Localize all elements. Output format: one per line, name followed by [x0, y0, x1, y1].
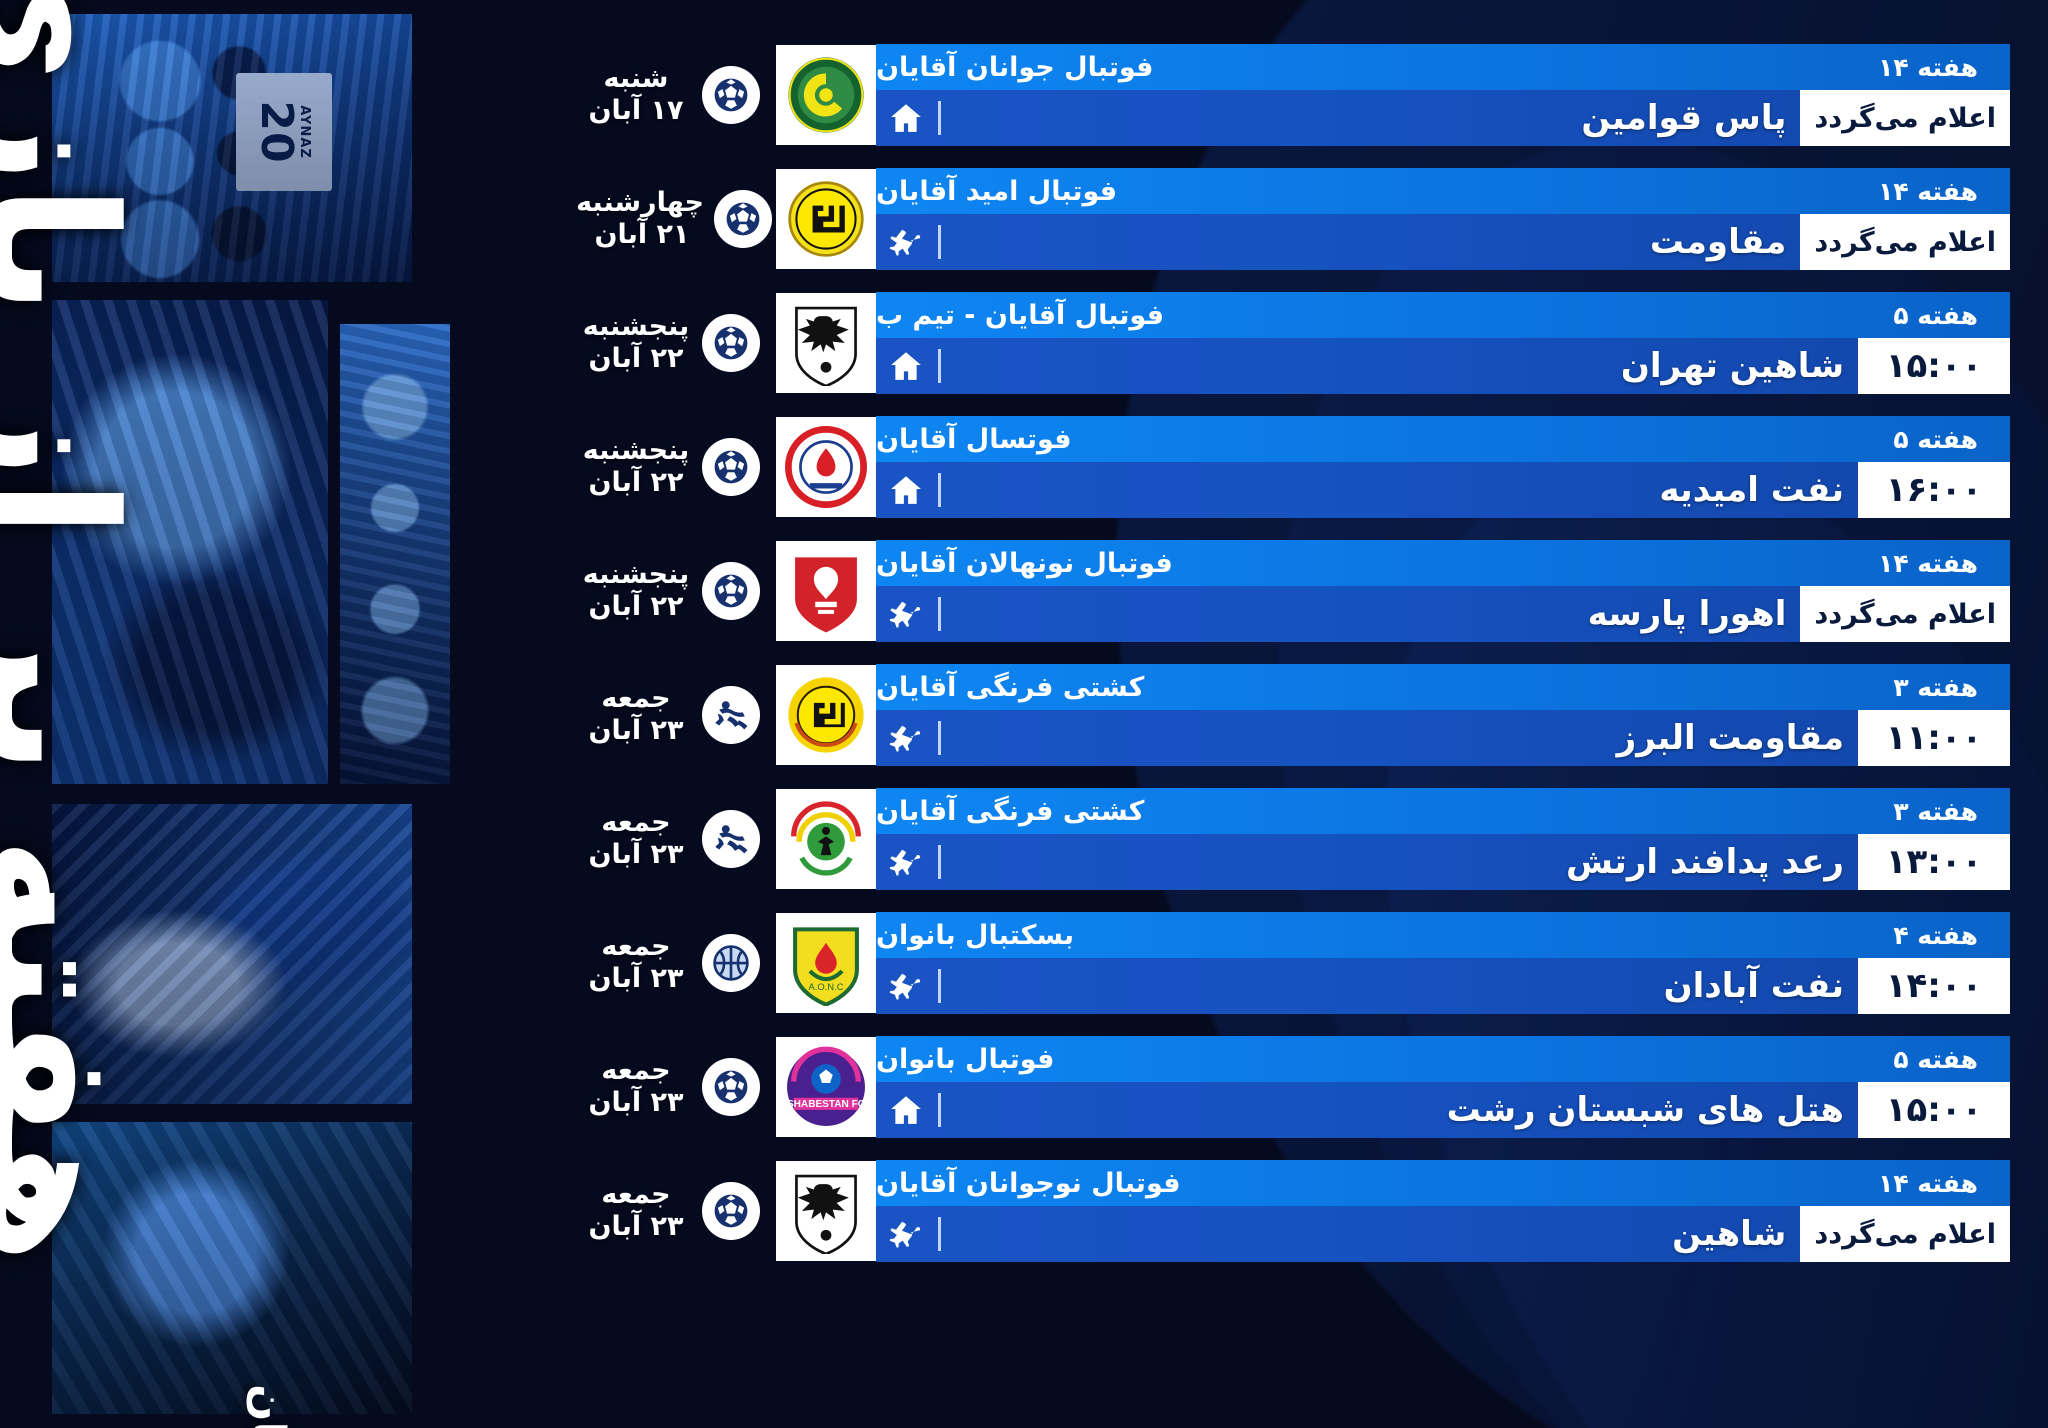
match-bars: فوتبال نوجوانان آقایانهفته ۱۴شاهیناعلام …	[876, 1160, 2010, 1262]
match-team-bar: رعد پدافند ارتش۱۳:۰۰	[876, 834, 2010, 890]
match-league: فوتبال امید آقایان	[876, 176, 1123, 207]
soccer-ball-icon	[702, 66, 760, 124]
match-bars: کشتی فرنگی آقایانهفته ۳رعد پدافند ارتش۱۳…	[876, 788, 2010, 890]
svg-text:A.O.N.C: A.O.N.C	[809, 981, 844, 992]
match-team-bar: پاس قوامیناعلام می‌گردد	[876, 90, 2010, 146]
match-row[interactable]: پنجشنبه۲۲ آبانفوتبال نونهالان آقایانهفته…	[580, 540, 2010, 642]
match-daymonth: ۲۳ آبان	[580, 1087, 692, 1119]
match-date-block: جمعه۲۳ آبان	[580, 664, 776, 766]
photo-collage-panel: AYNAZ 20 هفته پر از بازی ۱۷ آبان ۲۳ آبان	[52, 14, 544, 1414]
match-league: بسکتبال بانوان	[876, 920, 1080, 951]
match-weekday: جمعه	[580, 931, 692, 963]
background-watermark: برنامه هفته	[0, 1046, 30, 1406]
match-weekday: چهارشنبه	[580, 187, 704, 219]
match-bars: فوتبال نونهالان آقایانهفته ۱۴اهورا پارسه…	[876, 540, 2010, 642]
plane-icon	[876, 710, 936, 766]
match-league: فوتبال آقایان - تیم ب	[876, 300, 1170, 331]
match-week: هفته ۱۴	[1856, 177, 1996, 206]
collage-photo-action-3	[52, 1122, 412, 1414]
match-date-block: پنجشنبه۲۲ آبان	[580, 540, 776, 642]
venue-divider	[938, 597, 941, 631]
match-date: جمعه۲۳ آبان	[580, 1179, 692, 1243]
match-schedule-list: شنبه۱۷ آبانفوتبال جوانان آقایانهفته ۱۴پا…	[580, 44, 2010, 1262]
match-row[interactable]: پنجشنبه۲۲ آبانفوتبال آقایان - تیم بهفته …	[580, 292, 2010, 394]
match-row[interactable]: جمعه۲۳ آبانفوتبال نوجوانان آقایانهفته ۱۴…	[580, 1160, 2010, 1262]
match-team-bar: مقاومتاعلام می‌گردد	[876, 214, 2010, 270]
match-opponent: هتل های شبستان رشت	[943, 1082, 1858, 1138]
wrestling-icon	[702, 810, 760, 868]
home-icon	[876, 462, 936, 518]
match-week: هفته ۱۴	[1856, 1169, 1996, 1198]
match-bars: بسکتبال بانوانهفته ۴نفت آبادان۱۴:۰۰	[876, 912, 2010, 1014]
home-icon	[876, 90, 936, 146]
match-opponent: نفت آبادان	[943, 958, 1858, 1014]
match-time: اعلام می‌گردد	[1800, 214, 2010, 270]
match-date-block: پنجشنبه۲۲ آبان	[580, 292, 776, 394]
match-team-bar: شاهیناعلام می‌گردد	[876, 1206, 2010, 1262]
match-date: پنجشنبه۲۲ آبان	[580, 559, 692, 623]
soccer-ball-icon	[702, 438, 760, 496]
match-league-bar: فوتبال بانوانهفته ۵	[876, 1036, 2010, 1082]
match-opponent: اهورا پارسه	[943, 586, 1800, 642]
match-row[interactable]: جمعه۲۳ آبانA.O.N.Cبسکتبال بانوانهفته ۴نف…	[580, 912, 2010, 1014]
match-date: پنجشنبه۲۲ آبان	[580, 435, 692, 499]
match-time: اعلام می‌گردد	[1800, 586, 2010, 642]
match-league-bar: بسکتبال بانوانهفته ۴	[876, 912, 2010, 958]
match-league-bar: کشتی فرنگی آقایانهفته ۳	[876, 664, 2010, 710]
match-team-bar: نفت امیدیه۱۶:۰۰	[876, 462, 2010, 518]
jersey-number: 20	[255, 100, 297, 163]
match-date-block: جمعه۲۳ آبان	[580, 1160, 776, 1262]
match-row[interactable]: شنبه۱۷ آبانفوتبال جوانان آقایانهفته ۱۴پا…	[580, 44, 2010, 146]
soccer-ball-icon	[702, 1182, 760, 1240]
match-team-bar: اهورا پارسهاعلام می‌گردد	[876, 586, 2010, 642]
match-row[interactable]: جمعه۲۳ آبانکشتی فرنگی آقایانهفته ۳رعد پد…	[580, 788, 2010, 890]
match-bars: کشتی فرنگی آقایانهفته ۳مقاومت البرز۱۱:۰۰	[876, 664, 2010, 766]
match-daymonth: ۱۷ آبان	[580, 95, 692, 127]
home-icon	[876, 1082, 936, 1138]
match-opponent: مقاومت	[943, 214, 1800, 270]
match-league: کشتی فرنگی آقایان	[876, 796, 1150, 827]
match-league-bar: فوتسال آقایانهفته ۵	[876, 416, 2010, 462]
jersey-name: AYNAZ	[297, 105, 312, 159]
match-weekday: پنجشنبه	[580, 435, 692, 467]
match-opponent: پاس قوامین	[943, 90, 1800, 146]
match-bars: فوتبال جوانان آقایانهفته ۱۴پاس قوامیناعل…	[876, 44, 2010, 146]
match-weekday: شنبه	[580, 63, 692, 95]
jersey-badge: AYNAZ 20	[236, 73, 332, 191]
match-opponent: رعد پدافند ارتش	[943, 834, 1858, 890]
match-league: فوتسال آقایان	[876, 424, 1078, 455]
match-team-bar: نفت آبادان۱۴:۰۰	[876, 958, 2010, 1014]
match-time: ۱۴:۰۰	[1858, 958, 2010, 1014]
match-time: ۱۳:۰۰	[1858, 834, 2010, 890]
match-row[interactable]: جمعه۲۳ آبانSHABESTAN FCفوتبال بانوانهفته…	[580, 1036, 2010, 1138]
collage-photo-action-2	[52, 804, 412, 1104]
plane-icon	[876, 834, 936, 890]
match-date-block: پنجشنبه۲۲ آبان	[580, 416, 776, 518]
match-daymonth: ۲۲ آبان	[580, 343, 692, 375]
match-week: هفته ۳	[1871, 673, 1996, 702]
match-team-bar: شاهین تهران۱۵:۰۰	[876, 338, 2010, 394]
match-time: ۱۱:۰۰	[1858, 710, 2010, 766]
soccer-ball-icon	[702, 1058, 760, 1116]
match-opponent: شاهین تهران	[943, 338, 1858, 394]
match-week: هفته ۱۴	[1856, 549, 1996, 578]
soccer-ball-icon	[702, 314, 760, 372]
match-date-block: جمعه۲۳ آبان	[580, 788, 776, 890]
match-week: هفته ۵	[1871, 1045, 1996, 1074]
plane-icon	[876, 586, 936, 642]
plane-icon	[876, 958, 936, 1014]
match-time: اعلام می‌گردد	[1800, 1206, 2010, 1262]
soccer-ball-icon	[714, 190, 772, 248]
opponent-club-logo	[776, 1161, 876, 1261]
match-league: فوتبال جوانان آقایان	[876, 52, 1160, 83]
plane-icon	[876, 1206, 936, 1262]
match-time: ۱۶:۰۰	[1858, 462, 2010, 518]
opponent-club-logo	[776, 541, 876, 641]
match-bars: فوتسال آقایانهفته ۵نفت امیدیه۱۶:۰۰	[876, 416, 2010, 518]
match-league-bar: فوتبال آقایان - تیم بهفته ۵	[876, 292, 2010, 338]
match-daymonth: ۲۳ آبان	[580, 839, 692, 871]
match-daymonth: ۲۲ آبان	[580, 591, 692, 623]
venue-divider	[938, 101, 941, 135]
match-week: هفته ۴	[1871, 921, 1996, 950]
match-date-block: چهارشنبه۲۱ آبان	[580, 168, 776, 270]
plane-icon	[876, 214, 936, 270]
match-league: فوتبال بانوان	[876, 1044, 1060, 1075]
match-week: هفته ۱۴	[1856, 53, 1996, 82]
match-bars: فوتبال امید آقایانهفته ۱۴مقاومتاعلام می‌…	[876, 168, 2010, 270]
match-row[interactable]: چهارشنبه۲۱ آبانفوتبال امید آقایانهفته ۱۴…	[580, 168, 2010, 270]
opponent-club-logo: A.O.N.C	[776, 913, 876, 1013]
match-league-bar: کشتی فرنگی آقایانهفته ۳	[876, 788, 2010, 834]
venue-divider	[938, 1217, 941, 1251]
match-week: هفته ۵	[1871, 301, 1996, 330]
match-bars: فوتبال بانوانهفته ۵هتل های شبستان رشت۱۵:…	[876, 1036, 2010, 1138]
match-weekday: جمعه	[580, 1055, 692, 1087]
match-league-bar: فوتبال نونهالان آقایانهفته ۱۴	[876, 540, 2010, 586]
match-weekday: جمعه	[580, 1179, 692, 1211]
match-date: جمعه۲۳ آبان	[580, 931, 692, 995]
match-weekday: جمعه	[580, 683, 692, 715]
svg-text:SHABESTAN FC: SHABESTAN FC	[787, 1099, 865, 1110]
match-opponent: مقاومت البرز	[943, 710, 1858, 766]
match-weekday: جمعه	[580, 807, 692, 839]
basketball-icon	[702, 934, 760, 992]
match-date-block: شنبه۱۷ آبان	[580, 44, 776, 146]
collage-photo-action-1	[52, 300, 328, 784]
soccer-ball-icon	[702, 562, 760, 620]
match-daymonth: ۲۳ آبان	[580, 1211, 692, 1243]
collage-photo-team: AYNAZ 20	[52, 14, 412, 282]
match-league: فوتبال نونهالان آقایان	[876, 548, 1179, 579]
opponent-club-logo	[776, 169, 876, 269]
match-date: پنجشنبه۲۲ آبان	[580, 311, 692, 375]
opponent-club-logo	[776, 665, 876, 765]
match-date-block: جمعه۲۳ آبان	[580, 912, 776, 1014]
match-weekday: پنجشنبه	[580, 559, 692, 591]
venue-divider	[938, 721, 941, 755]
wrestling-icon	[702, 686, 760, 744]
match-week: هفته ۵	[1871, 425, 1996, 454]
home-icon	[876, 338, 936, 394]
match-league-bar: فوتبال جوانان آقایانهفته ۱۴	[876, 44, 2010, 90]
match-opponent: شاهین	[943, 1206, 1800, 1262]
opponent-club-logo	[776, 293, 876, 393]
venue-divider	[938, 1093, 941, 1127]
match-time: اعلام می‌گردد	[1800, 90, 2010, 146]
venue-divider	[938, 845, 941, 879]
opponent-club-logo	[776, 417, 876, 517]
match-team-bar: مقاومت البرز۱۱:۰۰	[876, 710, 2010, 766]
date-range-to: ۲۳ آبان	[245, 1384, 291, 1428]
collage-photo-squad	[340, 324, 450, 784]
poster-canvas: برنامه هفته AYNAZ 20 هفته پر از بازی ۱۷ …	[0, 0, 2048, 1428]
match-daymonth: ۲۱ آبان	[580, 219, 704, 251]
match-opponent: نفت امیدیه	[943, 462, 1858, 518]
match-date: جمعه۲۳ آبان	[580, 807, 692, 871]
opponent-club-logo	[776, 45, 876, 145]
match-row[interactable]: جمعه۲۳ آبانکشتی فرنگی آقایانهفته ۳مقاومت…	[580, 664, 2010, 766]
match-league: فوتبال نوجوانان آقایان	[876, 1168, 1187, 1199]
match-league: کشتی فرنگی آقایان	[876, 672, 1150, 703]
match-daymonth: ۲۳ آبان	[580, 715, 692, 747]
match-team-bar: هتل های شبستان رشت۱۵:۰۰	[876, 1082, 2010, 1138]
match-daymonth: ۲۳ آبان	[580, 963, 692, 995]
date-range: ۱۷ آبان ۲۳ آبان	[202, 1384, 334, 1428]
venue-divider	[938, 225, 941, 259]
match-league-bar: فوتبال نوجوانان آقایانهفته ۱۴	[876, 1160, 2010, 1206]
match-time: ۱۵:۰۰	[1858, 1082, 2010, 1138]
match-bars: فوتبال آقایان - تیم بهفته ۵شاهین تهران۱۵…	[876, 292, 2010, 394]
match-date: شنبه۱۷ آبان	[580, 63, 692, 127]
venue-divider	[938, 349, 941, 383]
venue-divider	[938, 969, 941, 1003]
match-date: چهارشنبه۲۱ آبان	[580, 187, 704, 251]
match-date: جمعه۲۳ آبان	[580, 1055, 692, 1119]
opponent-club-logo	[776, 789, 876, 889]
match-league-bar: فوتبال امید آقایانهفته ۱۴	[876, 168, 2010, 214]
match-time: ۱۵:۰۰	[1858, 338, 2010, 394]
venue-divider	[938, 473, 941, 507]
match-week: هفته ۳	[1871, 797, 1996, 826]
match-date-block: جمعه۲۳ آبان	[580, 1036, 776, 1138]
opponent-club-logo: SHABESTAN FC	[776, 1037, 876, 1137]
match-weekday: پنجشنبه	[580, 311, 692, 343]
match-row[interactable]: پنجشنبه۲۲ آبانفوتسال آقایانهفته ۵نفت امی…	[580, 416, 2010, 518]
match-date: جمعه۲۳ آبان	[580, 683, 692, 747]
match-daymonth: ۲۲ آبان	[580, 467, 692, 499]
